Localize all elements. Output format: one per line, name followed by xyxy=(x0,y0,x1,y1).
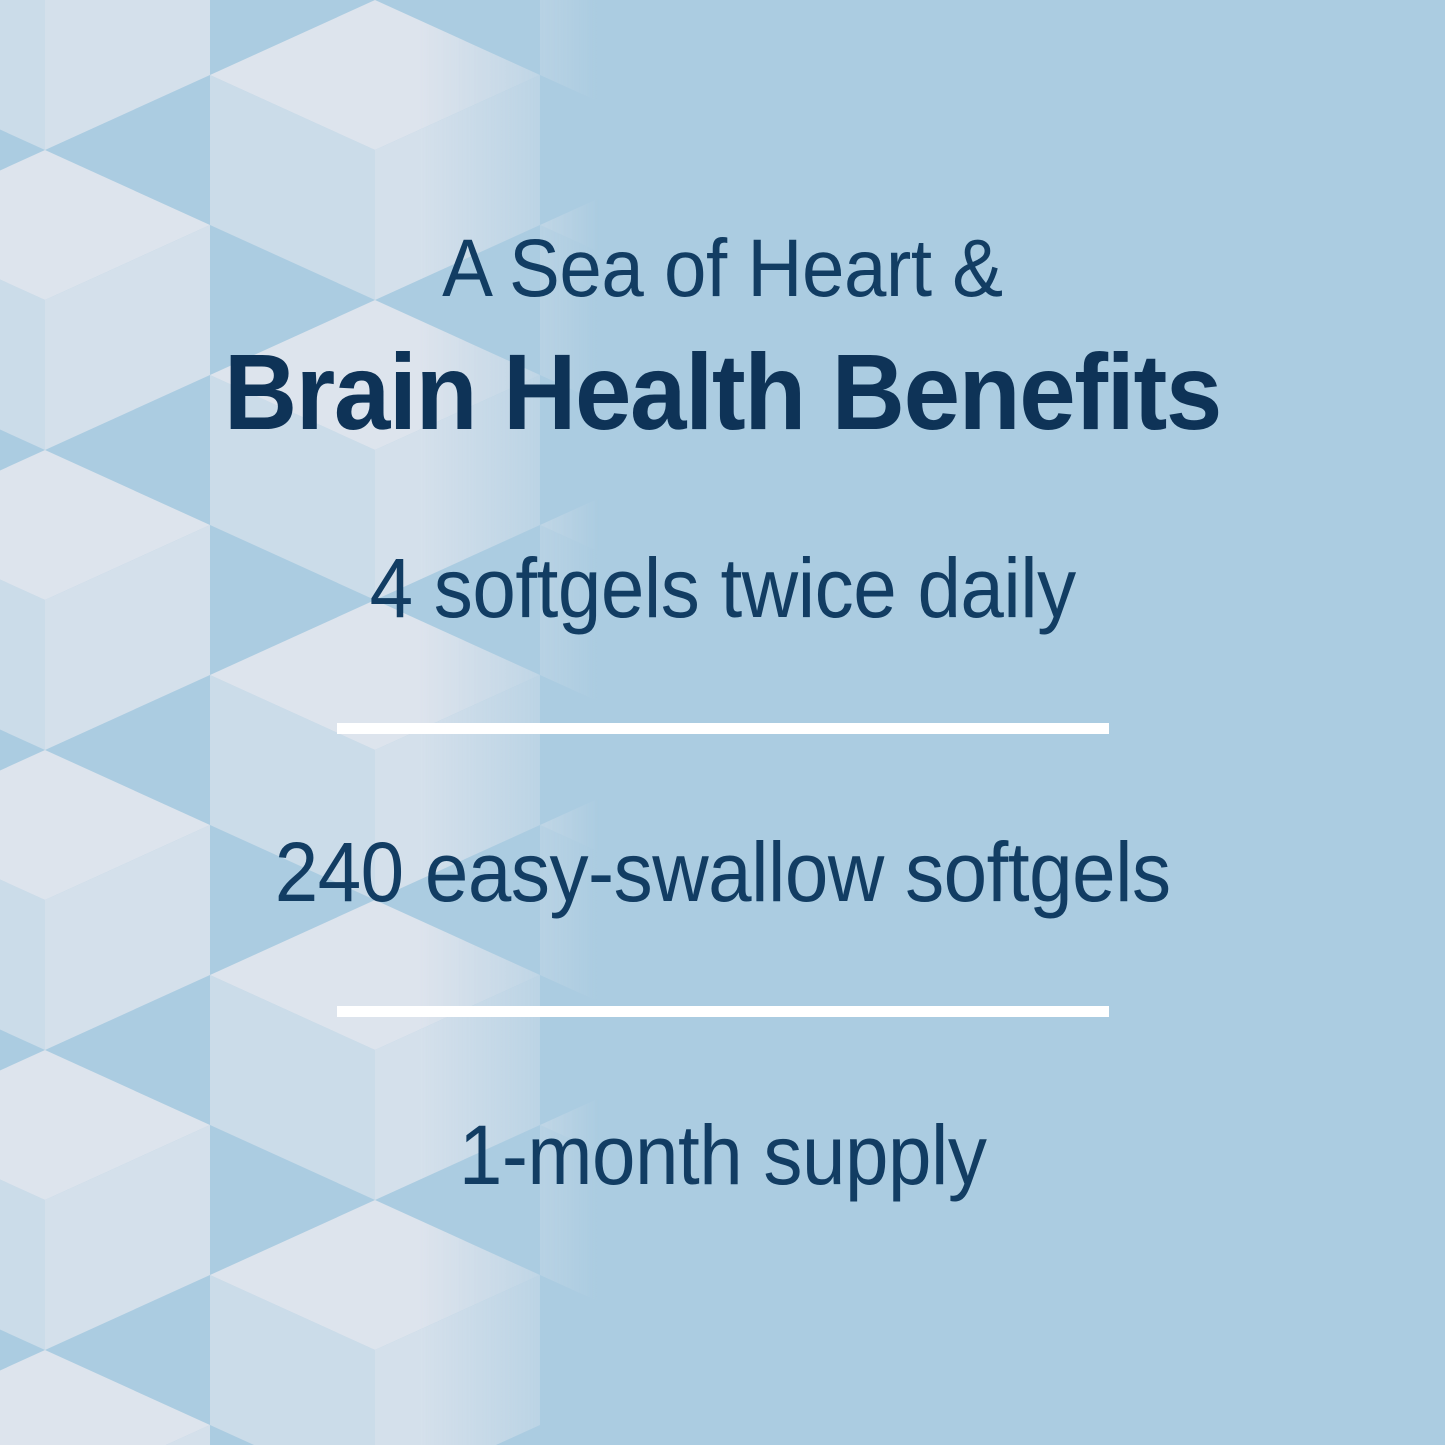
product-benefits-banner: A Sea of Heart & Brain Health Benefits 4… xyxy=(0,0,1445,1445)
divider-above-count xyxy=(337,723,1109,734)
fact-count: 240 easy-swallow softgels xyxy=(275,830,1171,914)
banner-content: A Sea of Heart & Brain Health Benefits 4… xyxy=(0,0,1445,1445)
headline-text: Brain Health Benefits xyxy=(224,338,1221,446)
fact-dosage: 4 softgels twice daily xyxy=(369,546,1075,630)
eyebrow-text: A Sea of Heart & xyxy=(442,228,1003,310)
fact-supply: 1-month supply xyxy=(459,1113,987,1197)
divider-above-supply xyxy=(337,1006,1109,1017)
